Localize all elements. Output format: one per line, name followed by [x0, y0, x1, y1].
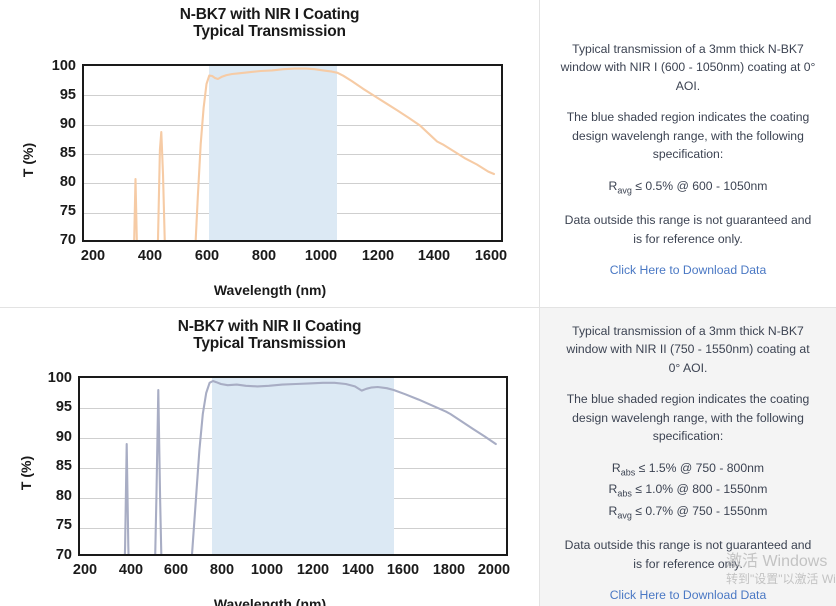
chart1-xtick-1600: 1600	[461, 248, 521, 264]
nir2-spec-sub-1: abs	[621, 467, 636, 477]
chart1-ytick-75: 75	[30, 203, 76, 219]
chart1-xtick-200: 200	[65, 248, 121, 264]
chart2-plot-area: T (%) 100 95 90 85 80 75 70 200	[0, 308, 540, 606]
nir2-spec-sub-2: abs	[617, 489, 632, 499]
description-panel-nir1: Typical transmission of a 3mm thick N-BK…	[540, 0, 836, 307]
chart1-ytick-70: 70	[30, 232, 76, 248]
chart2-ytick-75: 75	[26, 517, 72, 533]
chart2-xtick-2000: 2000	[464, 562, 524, 578]
chart1-xtick-1200: 1200	[348, 248, 408, 264]
chart1-ytick-100: 100	[30, 58, 76, 74]
nir2-spec-line-2: Rabs ≤ 1.0% @ 800 - 1550nm	[609, 480, 768, 501]
chart2-ytick-70: 70	[26, 547, 72, 563]
nir2-description-para2: The blue shaded region indicates the coa…	[559, 390, 817, 446]
chart1-xtick-400: 400	[122, 248, 178, 264]
nir1-spec-line-1: Ravg ≤ 0.5% @ 600 - 1050nm	[609, 177, 768, 198]
chart1-xtick-1400: 1400	[404, 248, 464, 264]
chart2-plot-box	[78, 376, 508, 556]
description-panel-nir2: Typical transmission of a 3mm thick N-BK…	[540, 308, 836, 606]
chart2-ytick-90: 90	[26, 429, 72, 445]
nir1-description-para2: The blue shaded region indicates the coa…	[559, 108, 817, 164]
chart2-x-axis-label: Wavelength (nm)	[40, 596, 500, 606]
chart1-plot-area: T (%) 100 95 90 85 80 75 70	[0, 0, 540, 308]
nir2-spec-line-1: Rabs ≤ 1.5% @ 750 - 800nm	[609, 459, 768, 480]
nir2-spec-rest-1: ≤ 1.5% @ 750 - 800nm	[635, 461, 764, 475]
nir2-spec-sym-1: R	[612, 461, 621, 475]
nir1-description-para1: Typical transmission of a 3mm thick N-BK…	[559, 40, 817, 96]
nir1-spec-list: Ravg ≤ 0.5% @ 600 - 1050nm	[609, 177, 768, 198]
chart-cell-nir2: N-BK7 with NIR II Coating Typical Transm…	[0, 308, 540, 606]
description-cell-nir1: Typical transmission of a 3mm thick N-BK…	[540, 0, 836, 308]
chart2-ytick-85: 85	[26, 458, 72, 474]
nir1-download-data-link[interactable]: Click Here to Download Data	[610, 263, 766, 277]
chart2-ytick-100: 100	[26, 370, 72, 386]
chart1-transmission-curve	[84, 66, 503, 242]
chart1-xtick-800: 800	[236, 248, 292, 264]
nir2-download-data-link[interactable]: Click Here to Download Data	[610, 588, 766, 602]
nir2-spec-sub-3: avg	[617, 510, 632, 520]
nir1-spec-sub-1: avg	[617, 185, 632, 195]
description-cell-nir2: Typical transmission of a 3mm thick N-BK…	[540, 308, 836, 606]
chart1-plot-box	[82, 64, 503, 242]
chart2-ytick-95: 95	[26, 399, 72, 415]
chart1-ytick-80: 80	[30, 174, 76, 190]
chart1-x-axis-label: Wavelength (nm)	[40, 282, 500, 298]
chart1-ytick-85: 85	[30, 145, 76, 161]
chart1-ytick-95: 95	[30, 87, 76, 103]
chart1-ytick-90: 90	[30, 116, 76, 132]
nir2-description-para3: Data outside this range is not guarantee…	[559, 536, 817, 573]
chart2-ytick-80: 80	[26, 488, 72, 504]
chart1-xtick-600: 600	[179, 248, 235, 264]
nir2-description-para1: Typical transmission of a 3mm thick N-BK…	[559, 322, 817, 378]
nir2-spec-rest-2: ≤ 1.0% @ 800 - 1550nm	[632, 482, 768, 496]
nir2-spec-rest-3: ≤ 0.7% @ 750 - 1550nm	[632, 504, 768, 518]
nir1-spec-rest-1: ≤ 0.5% @ 600 - 1050nm	[632, 179, 768, 193]
nir2-spec-list: Rabs ≤ 1.5% @ 750 - 800nm Rabs ≤ 1.0% @ …	[609, 459, 768, 523]
chart-panel-grid: N-BK7 with NIR I Coating Typical Transmi…	[0, 0, 836, 606]
chart1-xtick-1000: 1000	[291, 248, 351, 264]
chart-cell-nir1: N-BK7 with NIR I Coating Typical Transmi…	[0, 0, 540, 308]
chart2-transmission-curve	[80, 378, 508, 556]
nir1-description-para3: Data outside this range is not guarantee…	[559, 211, 817, 248]
nir2-spec-line-3: Ravg ≤ 0.7% @ 750 - 1550nm	[609, 502, 768, 523]
